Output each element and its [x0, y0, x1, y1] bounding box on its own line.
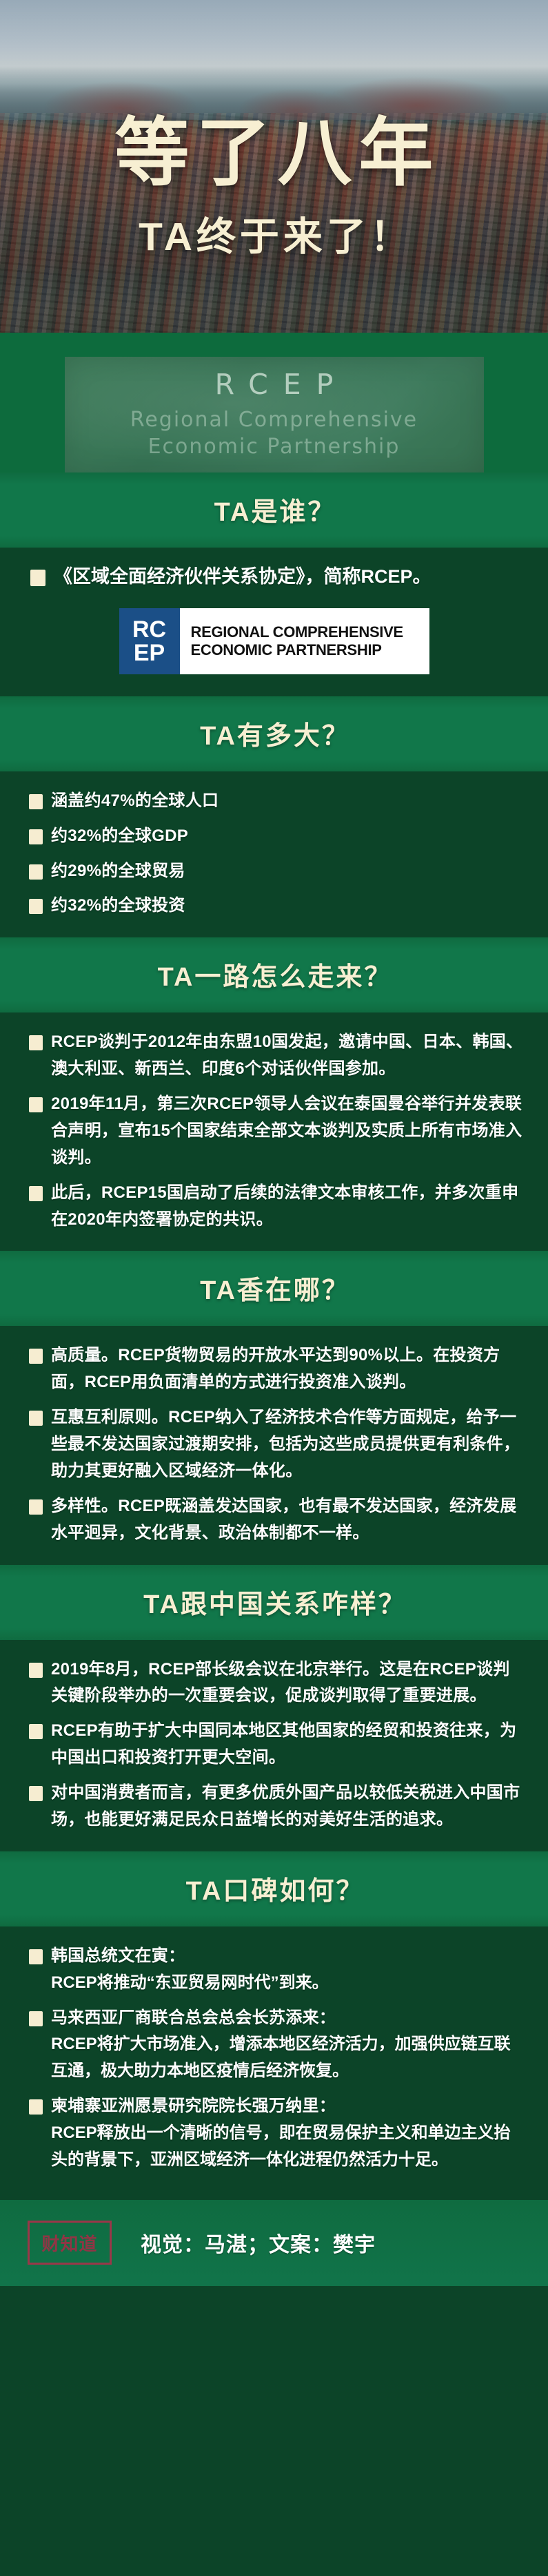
list-item: 对中国消费者而言，有更多优质外国产品以较低关税进入中国市场，也能更好满足民众日益…	[25, 1780, 523, 1834]
chalk-fullname-line2: Economic Partnership	[65, 433, 484, 460]
quote-text: RCEP将推动“东亚贸易网时代”到来。	[25, 1970, 523, 1997]
list-item-text: 约32%的全球GDP	[51, 827, 188, 845]
list-item-text: 高质量。RCEP货物贸易的开放水平达到90%以上。在投资方面，RCEP用负面清单…	[51, 1346, 500, 1391]
list-item: 2019年11月，第三次RCEP领导人会议在泰国曼谷举行并发表联合声明，宣布15…	[25, 1091, 523, 1172]
list-item-text: 对中国消费者而言，有更多优质外国产品以较低关税进入中国市场，也能更好满足民众日益…	[51, 1783, 520, 1829]
bullet-square-icon	[29, 829, 43, 844]
list-item-text: 约32%的全球投资	[51, 896, 185, 915]
section-title-benefits: TA香在哪？	[0, 1269, 548, 1307]
section-title-who: TA是谁？	[0, 490, 548, 528]
benefits-bullet-list: 高质量。RCEP货物贸易的开放水平达到90%以上。在投资方面，RCEP用负面清单…	[25, 1342, 523, 1546]
bullet-square-icon	[29, 1949, 43, 1964]
bullet-square-icon	[29, 864, 43, 880]
history-bullet-list: RCEP谈判于2012年由东盟10国发起，邀请中国、日本、韩国、澳大利亚、新西兰…	[25, 1029, 523, 1233]
list-item-text: 多样性。RCEP既涵盖发达国家，也有最不发达国家，经济发展水平迥异，文化背景、政…	[51, 1497, 516, 1542]
section-header-history: TA一路怎么走来？	[0, 937, 548, 1012]
hero-title: 等了八年	[0, 116, 548, 190]
hero-banner: 等了八年 TA终于来了！	[0, 0, 548, 333]
list-item: 涵盖约47%的全球人口	[25, 788, 523, 815]
list-item-text: 此后，RCEP15国启动了后续的法律文本审核工作，并多次重申在2020年内签署协…	[51, 1183, 518, 1229]
section-body-history: RCEP谈判于2012年由东盟10国发起，邀请中国、日本、韩国、澳大利亚、新西兰…	[0, 1012, 548, 1251]
list-item: 此后，RCEP15国启动了后续的法律文本审核工作，并多次重申在2020年内签署协…	[25, 1180, 523, 1234]
bullet-square-icon	[29, 2011, 43, 2026]
list-item-text: 约29%的全球贸易	[51, 862, 185, 880]
list-item: 柬埔寨亚洲愿景研究院院长强万纳里：	[25, 2093, 523, 2120]
quote-text: RCEP将扩大市场准入，增添本地区经济活力，加强供应链互联互通，极大助力本地区疫…	[25, 2031, 523, 2085]
quote-speaker: 马来西亚厂商联合总会总会长苏添来：	[51, 2008, 336, 2027]
list-item-text: 涵盖约47%的全球人口	[51, 791, 219, 810]
list-item-text: 2019年8月，RCEP部长级会议在北京举行。这是在RCEP谈判关键阶段举办的一…	[51, 1660, 510, 1705]
rcep-logo-text-line2: ECONOMIC PARTNERSHIP	[191, 641, 429, 659]
list-item-text: 2019年11月，第三次RCEP领导人会议在泰国曼谷举行并发表联合声明，宣布15…	[51, 1094, 522, 1167]
section-body-china: 2019年8月，RCEP部长级会议在北京举行。这是在RCEP谈判关键阶段举办的一…	[0, 1640, 548, 1851]
chalkboard-section: RCEP Regional Comprehensive Economic Par…	[0, 333, 548, 472]
section-header-size: TA有多大？	[0, 696, 548, 771]
section-title-reputation: TA口碑如何？	[0, 1869, 548, 1907]
list-item: 多样性。RCEP既涵盖发达国家，也有最不发达国家，经济发展水平迥异，文化背景、政…	[25, 1493, 523, 1547]
reputation-quote-list: 马来西亚厂商联合总会总会长苏添来：	[25, 2005, 523, 2032]
rcep-logo: RC EP REGIONAL COMPREHENSIVE ECONOMIC PA…	[119, 608, 429, 674]
rcep-logo-mark-line1: RC	[132, 618, 166, 641]
who-intro-text: 《区域全面经济伙伴关系协定》，简称RCEP。	[54, 566, 432, 587]
bullet-square-icon	[29, 1097, 43, 1112]
section-header-benefits: TA香在哪？	[0, 1251, 548, 1326]
list-item-text: RCEP有助于扩大中国同本地区其他国家的经贸和投资往来，为中国出口和投资打开更大…	[51, 1721, 516, 1767]
chalk-acronym: RCEP	[65, 368, 484, 401]
bullet-square-icon	[29, 1499, 43, 1515]
list-item: 韩国总统文在寅：	[25, 1943, 523, 1970]
chalkboard: RCEP Regional Comprehensive Economic Par…	[65, 357, 484, 472]
section-body-benefits: 高质量。RCEP货物贸易的开放水平达到90%以上。在投资方面，RCEP用负面清单…	[0, 1326, 548, 1564]
chalk-fullname-line1: Regional Comprehensive	[65, 406, 484, 433]
bullet-square-icon	[29, 1663, 43, 1678]
list-item: 约32%的全球投资	[25, 893, 523, 920]
list-item: 互惠互利原则。RCEP纳入了经济技术合作等方面规定，给予一些最不发达国家过渡期安…	[25, 1404, 523, 1485]
rcep-logo-mark: RC EP	[119, 608, 180, 674]
section-header-who: TA是谁？	[0, 472, 548, 548]
infographic-page: 等了八年 TA终于来了！ RCEP Regional Comprehensive…	[0, 0, 548, 2576]
footer-bar: 财知道 视觉：马湛；文案：樊宇	[0, 2200, 548, 2286]
bullet-square-icon	[30, 570, 45, 586]
brand-stamp: 财知道	[28, 2221, 112, 2265]
china-bullet-list: 2019年8月，RCEP部长级会议在北京举行。这是在RCEP谈判关键阶段举办的一…	[25, 1656, 523, 1834]
bullet-square-icon	[29, 1349, 43, 1364]
list-item: 约32%的全球GDP	[25, 823, 523, 850]
section-title-china: TA跟中国关系咋样？	[0, 1583, 548, 1621]
list-item: RCEP谈判于2012年由东盟10国发起，邀请中国、日本、韩国、澳大利亚、新西兰…	[25, 1029, 523, 1083]
quote-speaker: 柬埔寨亚洲愿景研究院院长强万纳里：	[51, 2097, 336, 2115]
list-item: 2019年8月，RCEP部长级会议在北京举行。这是在RCEP谈判关键阶段举办的一…	[25, 1656, 523, 1710]
rcep-logo-text: REGIONAL COMPREHENSIVE ECONOMIC PARTNERS…	[180, 608, 429, 674]
rcep-logo-text-line1: REGIONAL COMPREHENSIVE	[191, 623, 429, 641]
section-body-size: 涵盖约47%的全球人口 约32%的全球GDP 约29%的全球贸易 约32%的全球…	[0, 771, 548, 938]
bullet-square-icon	[29, 1724, 43, 1739]
section-header-china: TA跟中国关系咋样？	[0, 1565, 548, 1640]
rcep-logo-mark-line2: EP	[134, 641, 165, 665]
section-title-history: TA一路怎么走来？	[0, 955, 548, 993]
reputation-quote-list: 韩国总统文在寅：	[25, 1943, 523, 1970]
bullet-square-icon	[29, 1411, 43, 1426]
who-intro-line: 《区域全面经济伙伴关系协定》，简称RCEP。	[25, 564, 523, 590]
reputation-quote-list: 柬埔寨亚洲愿景研究院院长强万纳里：	[25, 2093, 523, 2120]
section-title-size: TA有多大？	[0, 714, 548, 752]
list-item-text: RCEP谈判于2012年由东盟10国发起，邀请中国、日本、韩国、澳大利亚、新西兰…	[51, 1032, 522, 1078]
credits-text: 视觉：马湛；文案：樊宇	[141, 2227, 376, 2258]
list-item-text: 互惠互利原则。RCEP纳入了经济技术合作等方面规定，给予一些最不发达国家过渡期安…	[51, 1408, 520, 1480]
bullet-square-icon	[29, 794, 43, 809]
list-item: RCEP有助于扩大中国同本地区其他国家的经贸和投资往来，为中国出口和投资打开更大…	[25, 1718, 523, 1772]
hero-subtitle: TA终于来了！	[0, 218, 548, 257]
list-item: 约29%的全球贸易	[25, 858, 523, 885]
quote-text: RCEP释放出一个清晰的信号，即在贸易保护主义和单边主义抬头的背景下，亚洲区域经…	[25, 2120, 523, 2174]
list-item: 高质量。RCEP货物贸易的开放水平达到90%以上。在投资方面，RCEP用负面清单…	[25, 1342, 523, 1396]
quote-speaker: 韩国总统文在寅：	[51, 1946, 185, 1965]
section-body-reputation: 韩国总统文在寅： RCEP将推动“东亚贸易网时代”到来。 马来西亚厂商联合总会总…	[0, 1926, 548, 2200]
bullet-square-icon	[29, 1786, 43, 1801]
bullet-square-icon	[29, 1186, 43, 1201]
section-body-who: 《区域全面经济伙伴关系协定》，简称RCEP。 RC EP REGIONAL CO…	[0, 548, 548, 696]
size-bullet-list: 涵盖约47%的全球人口 约32%的全球GDP 约29%的全球贸易 约32%的全球…	[25, 788, 523, 920]
bullet-square-icon	[29, 899, 43, 914]
bullet-square-icon	[29, 2099, 43, 2115]
bullet-square-icon	[29, 1035, 43, 1050]
section-header-reputation: TA口碑如何？	[0, 1851, 548, 1926]
list-item: 马来西亚厂商联合总会总会长苏添来：	[25, 2005, 523, 2032]
